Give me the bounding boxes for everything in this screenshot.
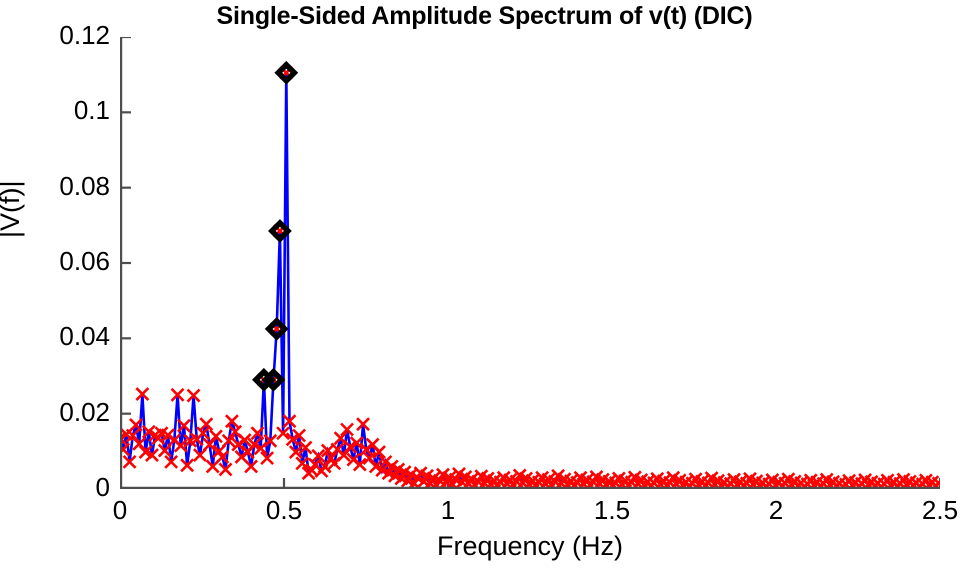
x-tick-label: 0 bbox=[113, 497, 127, 523]
x-tick-label: 1 bbox=[441, 497, 455, 523]
y-tick-label: 0.06 bbox=[0, 248, 110, 274]
data-point-markers bbox=[120, 67, 940, 489]
y-tick-label: 0 bbox=[0, 474, 110, 500]
x-tick-label: 2.5 bbox=[922, 497, 958, 523]
x-tick-label: 1.5 bbox=[594, 497, 630, 523]
y-tick-label: 0.12 bbox=[0, 22, 110, 48]
plot-area bbox=[120, 37, 940, 489]
axis-spines bbox=[120, 37, 940, 488]
y-tick-label: 0.04 bbox=[0, 323, 110, 349]
y-tick-label: 0.1 bbox=[0, 97, 110, 123]
x-tick-label: 2 bbox=[769, 497, 783, 523]
x-axis-label: Frequency (Hz) bbox=[120, 531, 940, 562]
axis-tick-group bbox=[120, 37, 940, 489]
x-tick-label: 0.5 bbox=[266, 497, 302, 523]
spectrum-plot-svg bbox=[120, 37, 940, 489]
spectrum-line bbox=[120, 73, 939, 487]
y-tick-label: 0.02 bbox=[0, 399, 110, 425]
y-tick-label: 0.08 bbox=[0, 173, 110, 199]
chart-title: Single-Sided Amplitude Spectrum of v(t) … bbox=[0, 2, 969, 31]
figure-canvas: Single-Sided Amplitude Spectrum of v(t) … bbox=[0, 0, 969, 577]
